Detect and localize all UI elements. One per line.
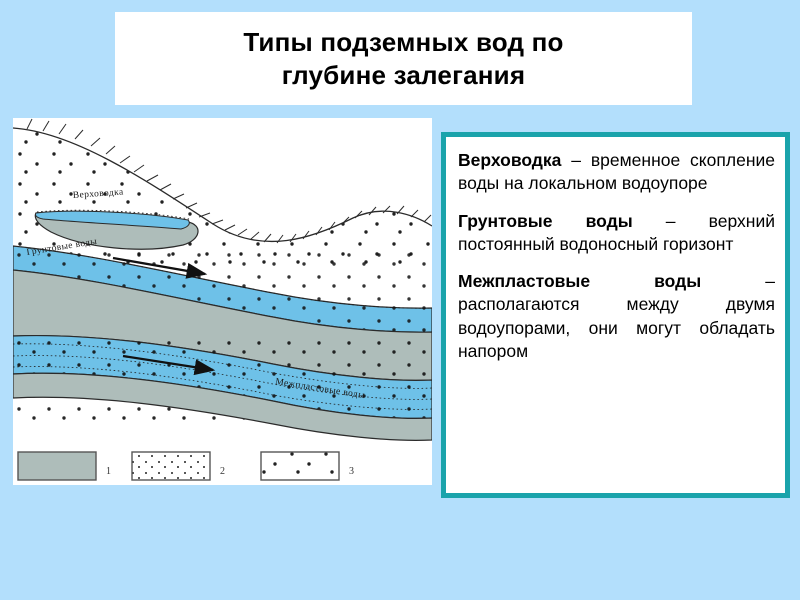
legend-number-3: 3 <box>349 466 354 477</box>
dash-2: – <box>701 271 775 291</box>
term-perched-water: Верховодка <box>458 150 561 170</box>
term-ground-water: Грунтовые воды <box>458 211 633 231</box>
diagram-legend: 1 2 3 <box>18 452 354 480</box>
page-title: Типы подземных вод по глубине залегания <box>235 26 571 91</box>
legend-number-1: 1 <box>106 466 111 477</box>
definitions-panel-inner: Верховодка – временное скопление воды на… <box>446 137 785 493</box>
legend-swatch-3 <box>261 452 339 480</box>
title-line-2: глубине залегания <box>282 60 525 90</box>
definition-interstratal-water: Межпластовые воды – располагаются между … <box>458 270 775 363</box>
definition-ground-water: Грунтовые воды – верхний постоянный водо… <box>458 210 775 257</box>
definitions-panel: Верховодка – временное скопление воды на… <box>441 132 790 498</box>
title-line-1: Типы подземных вод по <box>243 27 563 57</box>
title-box: Типы подземных вод по глубине залегания <box>115 12 692 105</box>
geology-cross-section-svg: Верховодка Грунтовые воды Межпластовые в… <box>13 118 432 485</box>
legend-swatch-1 <box>18 452 96 480</box>
definition-perched-water: Верховодка – временное скопление воды на… <box>458 149 775 196</box>
definition-text-interstratal-water: располагаются между двумя водоупорами, о… <box>458 294 775 361</box>
geology-diagram-panel: Верховодка Грунтовые воды Межпластовые в… <box>13 118 432 485</box>
dash-1: – <box>633 211 709 231</box>
term-interstratal-water: Межпластовые воды <box>458 271 701 291</box>
dash-0: – <box>561 150 590 170</box>
legend-swatch-2 <box>132 452 210 480</box>
legend-number-2: 2 <box>220 466 225 477</box>
